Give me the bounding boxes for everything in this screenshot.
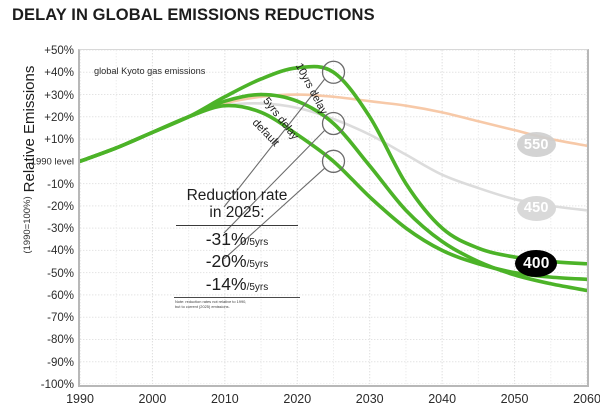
x-tick-2010: 2010 [211,392,239,406]
y-tick-30: +30% [28,90,74,102]
y-tick--10: -10% [28,179,74,191]
x-tick-2060: 2060 [573,392,600,406]
grid-lines [80,50,587,384]
chart-canvas [80,50,587,384]
x-tick-2000: 2000 [139,392,167,406]
y-tick--90: -90% [28,357,74,369]
plot-area: global Kyoto gas emissions 10yrs delay 5… [78,49,589,387]
y-tick--20: -20% [28,201,74,213]
y-axis-tick-labels: +50%+40%+30%+20%+10%1990 level-10%-20%-3… [28,0,74,417]
y-tick--50: -50% [28,268,74,280]
x-tick-1990: 1990 [66,392,94,406]
y-tick-20: +20% [28,112,74,124]
y-tick--80: -80% [28,334,74,346]
x-tick-2030: 2030 [356,392,384,406]
x-tick-2020: 2020 [283,392,311,406]
series-lines [80,67,587,291]
y-tick--40: -40% [28,245,74,257]
y-tick--30: -30% [28,223,74,235]
y-tick--100: -100% [28,379,74,391]
y-tick-zero: 1990 level [28,157,74,168]
chart-page: DELAY IN GLOBAL EMISSIONS REDUCTIONS Rel… [0,0,600,417]
y-tick--60: -60% [28,290,74,302]
x-tick-2050: 2050 [501,392,529,406]
y-tick-10: +10% [28,134,74,146]
y-tick-40: +40% [28,67,74,79]
y-tick-50: +50% [28,45,74,57]
x-tick-2040: 2040 [428,392,456,406]
y-tick--70: -70% [28,312,74,324]
